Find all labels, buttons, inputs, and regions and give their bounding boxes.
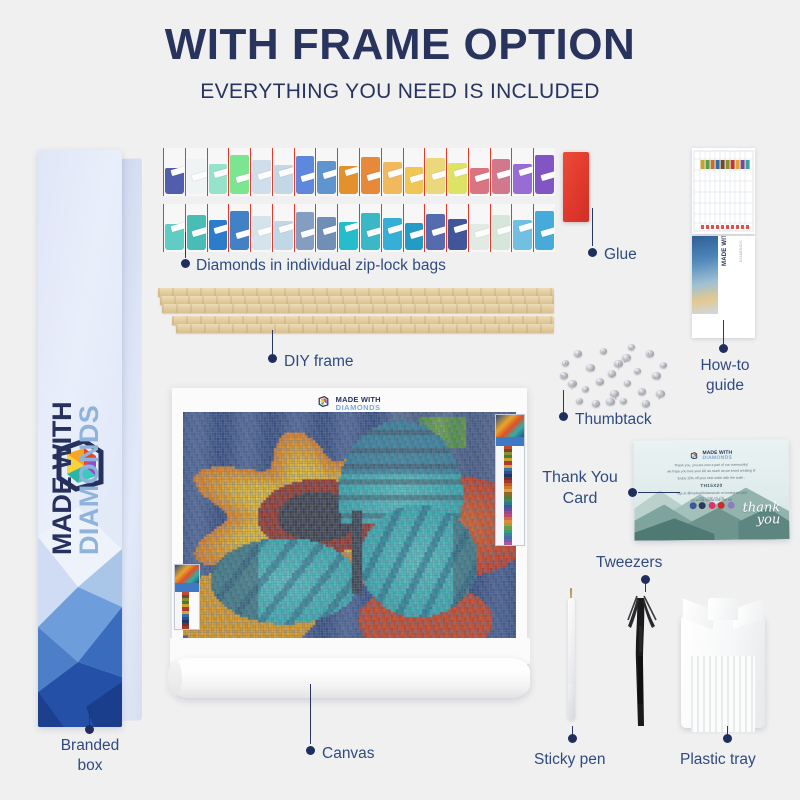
callout-line-how-to-guide bbox=[723, 320, 724, 344]
diamond-bag bbox=[272, 148, 294, 196]
diamond-bag bbox=[207, 148, 229, 196]
diamond-bag bbox=[163, 148, 185, 196]
pen-grip bbox=[568, 684, 575, 700]
callout-dot-how-to-guide bbox=[719, 344, 728, 353]
thumbtack-pin bbox=[618, 363, 620, 370]
tweezers bbox=[625, 586, 659, 730]
diamond-bag bbox=[533, 204, 555, 252]
diamond-bag bbox=[272, 204, 294, 252]
guide-cover-image bbox=[692, 236, 718, 314]
diamond-bag bbox=[163, 204, 185, 252]
glue-packet bbox=[563, 152, 589, 222]
legend-row bbox=[496, 542, 524, 545]
diamond-bag bbox=[511, 204, 533, 252]
diamond-bag bbox=[403, 204, 425, 252]
diamond-bag bbox=[185, 204, 207, 252]
callout-label-how-to-guide: How-to guide bbox=[692, 356, 758, 396]
infographic-canvas: WITH FRAME OPTION EVERYTHING YOU NEED IS… bbox=[0, 0, 800, 800]
diamond-bag bbox=[511, 148, 533, 196]
diamond-bag bbox=[468, 148, 490, 196]
callout-dot-thank-you-card bbox=[628, 488, 637, 497]
diamond-bag bbox=[424, 148, 446, 196]
legend-row-code bbox=[512, 542, 524, 545]
how-to-guide: MADE WITH DIAMONDS bbox=[692, 148, 755, 338]
diamond-bag bbox=[315, 148, 337, 196]
facebook-icon[interactable] bbox=[689, 502, 696, 509]
callout-label-branded-box: Branded box bbox=[46, 736, 134, 776]
diamond-bags-row-bottom bbox=[163, 204, 555, 252]
sticky-pen bbox=[567, 588, 576, 728]
diamond-bag bbox=[228, 204, 250, 252]
diamond-bag-fill bbox=[383, 218, 402, 250]
diamond-bag bbox=[337, 204, 359, 252]
diamond-bag bbox=[294, 204, 316, 252]
guide-chart-svg bbox=[692, 148, 755, 234]
diamond-bag bbox=[337, 148, 359, 196]
tray-body bbox=[681, 616, 765, 728]
callout-label-thank-you-card: Thank You Card bbox=[538, 468, 622, 510]
diamond-bag bbox=[359, 204, 381, 252]
tweezers-svg bbox=[625, 586, 659, 730]
callout-line-glue bbox=[592, 208, 593, 246]
pinterest-icon[interactable] bbox=[708, 502, 715, 509]
callout-line-canvas bbox=[310, 684, 311, 744]
diamond-bag bbox=[228, 148, 250, 196]
diamond-bag bbox=[381, 204, 403, 252]
card-brand-line2: DIAMONDS bbox=[702, 454, 732, 460]
canvas-roll bbox=[170, 658, 530, 698]
diamond-bag bbox=[185, 148, 207, 196]
guide-color-chart bbox=[692, 148, 755, 234]
thumbtack-pin bbox=[607, 403, 614, 406]
callout-label-plastic-tray: Plastic tray bbox=[680, 750, 756, 769]
callout-label-diamonds-bags: Diamonds in individual zip-lock bags bbox=[196, 256, 446, 275]
canvas-color-legend-right bbox=[495, 414, 525, 546]
callout-dot-thumbtack bbox=[559, 412, 568, 421]
callout-line-thank-you-card bbox=[638, 492, 680, 493]
diamond-bag bbox=[490, 148, 512, 196]
diamond-bag-fill bbox=[383, 162, 402, 194]
canvas-brand-line2: DIAMONDS bbox=[336, 403, 381, 412]
diamond-bag bbox=[381, 148, 403, 196]
card-discount-code: TH15X20 bbox=[646, 483, 777, 489]
diamond-bags-group bbox=[163, 148, 555, 252]
diamond-bag bbox=[250, 148, 272, 196]
canvas-color-legend-left bbox=[174, 564, 200, 630]
callout-dot-glue bbox=[588, 248, 597, 257]
legend-row-swatch bbox=[182, 626, 189, 629]
callout-dot-plastic-tray bbox=[723, 734, 732, 743]
diamond-bag bbox=[250, 204, 272, 252]
canvas-brand: MADE WITH DIAMONDS bbox=[172, 394, 527, 412]
diy-frame-slats bbox=[158, 288, 556, 338]
canvas-diamond-logo-icon bbox=[318, 394, 329, 412]
canvas-artwork bbox=[183, 412, 516, 658]
instagram-icon[interactable] bbox=[699, 502, 706, 509]
callout-label-thumbtack: Thumbtack bbox=[575, 410, 652, 429]
diamond-bag bbox=[468, 204, 490, 252]
diamond-bag bbox=[359, 148, 381, 196]
card-message-line3: Enjoy 15% off your next order with the c… bbox=[646, 474, 777, 482]
box-brand-text: MADE WITH DIAMONDS bbox=[47, 259, 105, 559]
callout-label-sticky-pen: Sticky pen bbox=[534, 750, 606, 769]
thumbtack-pin bbox=[587, 369, 594, 371]
callout-dot-branded-box bbox=[85, 725, 94, 734]
card-follow-label: FOLLOW US ON bbox=[699, 496, 724, 500]
card-script-line2: you bbox=[757, 514, 781, 526]
diamond-bag bbox=[533, 148, 555, 196]
diamond-bags-row-top bbox=[163, 148, 555, 196]
diamond-bag bbox=[446, 148, 468, 196]
canvas-logo-svg bbox=[318, 396, 329, 407]
youtube-icon[interactable] bbox=[718, 502, 725, 509]
canvas-roll-end bbox=[168, 660, 182, 696]
diamond-bag bbox=[424, 204, 446, 252]
canvas-sheet: MADE WITH DIAMONDS bbox=[172, 388, 527, 668]
tray-neck bbox=[708, 598, 738, 620]
frame-slat bbox=[176, 324, 554, 333]
canvas-artwork-mosaic bbox=[183, 412, 516, 658]
callout-line-branded-box bbox=[89, 706, 90, 726]
callout-label-tweezers: Tweezers bbox=[596, 553, 662, 572]
card-social-icons bbox=[689, 502, 734, 509]
callout-dot-diy-frame bbox=[268, 354, 277, 363]
legend-row-swatch bbox=[504, 542, 512, 545]
callout-dot-diamonds-bags bbox=[181, 259, 190, 268]
branded-box: Sparkle and Shine bbox=[38, 150, 142, 727]
canvas-product: MADE WITH DIAMONDS bbox=[172, 388, 527, 684]
page-subtitle: EVERYTHING YOU NEED IS INCLUDED bbox=[0, 80, 800, 104]
legend-row-code bbox=[189, 626, 199, 629]
diamond-bag bbox=[490, 204, 512, 252]
callout-dot-sticky-pen bbox=[568, 734, 577, 743]
plastic-tray bbox=[681, 598, 765, 728]
tiktok-icon[interactable] bbox=[727, 502, 734, 509]
pen-body bbox=[568, 598, 575, 720]
thumbtack-pile bbox=[556, 342, 678, 408]
diamond-bag bbox=[315, 204, 337, 252]
guide-brand-line2: DIAMONDS bbox=[739, 236, 743, 262]
callout-label-diy-frame: DIY frame bbox=[284, 352, 354, 371]
legend-row-index bbox=[496, 542, 504, 545]
legend-row bbox=[175, 626, 199, 629]
diamond-bag bbox=[294, 148, 316, 196]
frame-slat bbox=[162, 304, 554, 313]
box-side-tagline: Sparkle and Shine bbox=[141, 313, 142, 613]
callout-label-glue: Glue bbox=[604, 245, 637, 264]
box-brand-line2: DIAMONDS bbox=[74, 259, 105, 555]
guide-brand-line1: MADE WITH bbox=[722, 236, 728, 266]
page-title: WITH FRAME OPTION bbox=[0, 22, 800, 68]
legend-thumbnail bbox=[496, 415, 524, 437]
callout-dot-canvas bbox=[306, 746, 315, 755]
callout-line-diy-frame bbox=[272, 330, 273, 354]
thank-you-card: MADE WITH DIAMONDS Thank you, you are no… bbox=[633, 439, 789, 541]
diamond-bag bbox=[403, 148, 425, 196]
legend-row-index bbox=[175, 626, 182, 629]
diamond-bag bbox=[446, 204, 468, 252]
card-logo-svg bbox=[690, 452, 697, 459]
callout-line-diamonds-bags bbox=[185, 232, 186, 258]
callout-dot-tweezers bbox=[641, 575, 650, 584]
callout-label-canvas: Canvas bbox=[322, 744, 375, 763]
branded-box-side-panel: Sparkle and Shine bbox=[122, 158, 142, 721]
legend-thumbnail bbox=[175, 565, 199, 583]
tray-ribs bbox=[691, 656, 755, 732]
branded-box-front-panel: MADE WITH DIAMONDS bbox=[38, 150, 122, 727]
callout-line-thumbtack bbox=[563, 390, 564, 412]
card-thank-you-script: thank you bbox=[743, 502, 781, 526]
diamond-bag bbox=[207, 204, 229, 252]
